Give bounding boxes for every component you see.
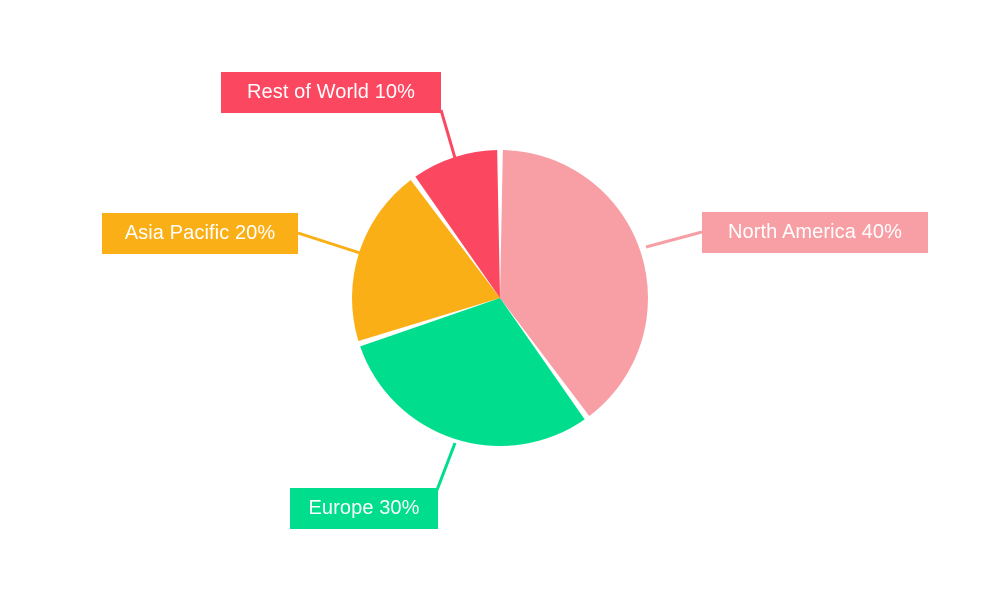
chart-canvas: North America 40%Europe 30%Asia Pacific … xyxy=(0,0,1000,600)
leader-line-asia-pacific xyxy=(298,233,360,253)
slice-label-asia-pacific[interactable]: Asia Pacific 20% xyxy=(102,213,298,254)
slice-label-north-america[interactable]: North America 40% xyxy=(702,212,928,253)
pie-slices xyxy=(352,150,648,446)
slice-label-rest-of-world[interactable]: Rest of World 10% xyxy=(221,72,441,113)
leader-line-rest-of-world xyxy=(441,110,455,158)
pie-chart xyxy=(0,0,1000,600)
slice-label-europe[interactable]: Europe 30% xyxy=(290,488,438,529)
leader-line-north-america xyxy=(646,232,702,247)
leader-line-europe xyxy=(437,443,455,490)
